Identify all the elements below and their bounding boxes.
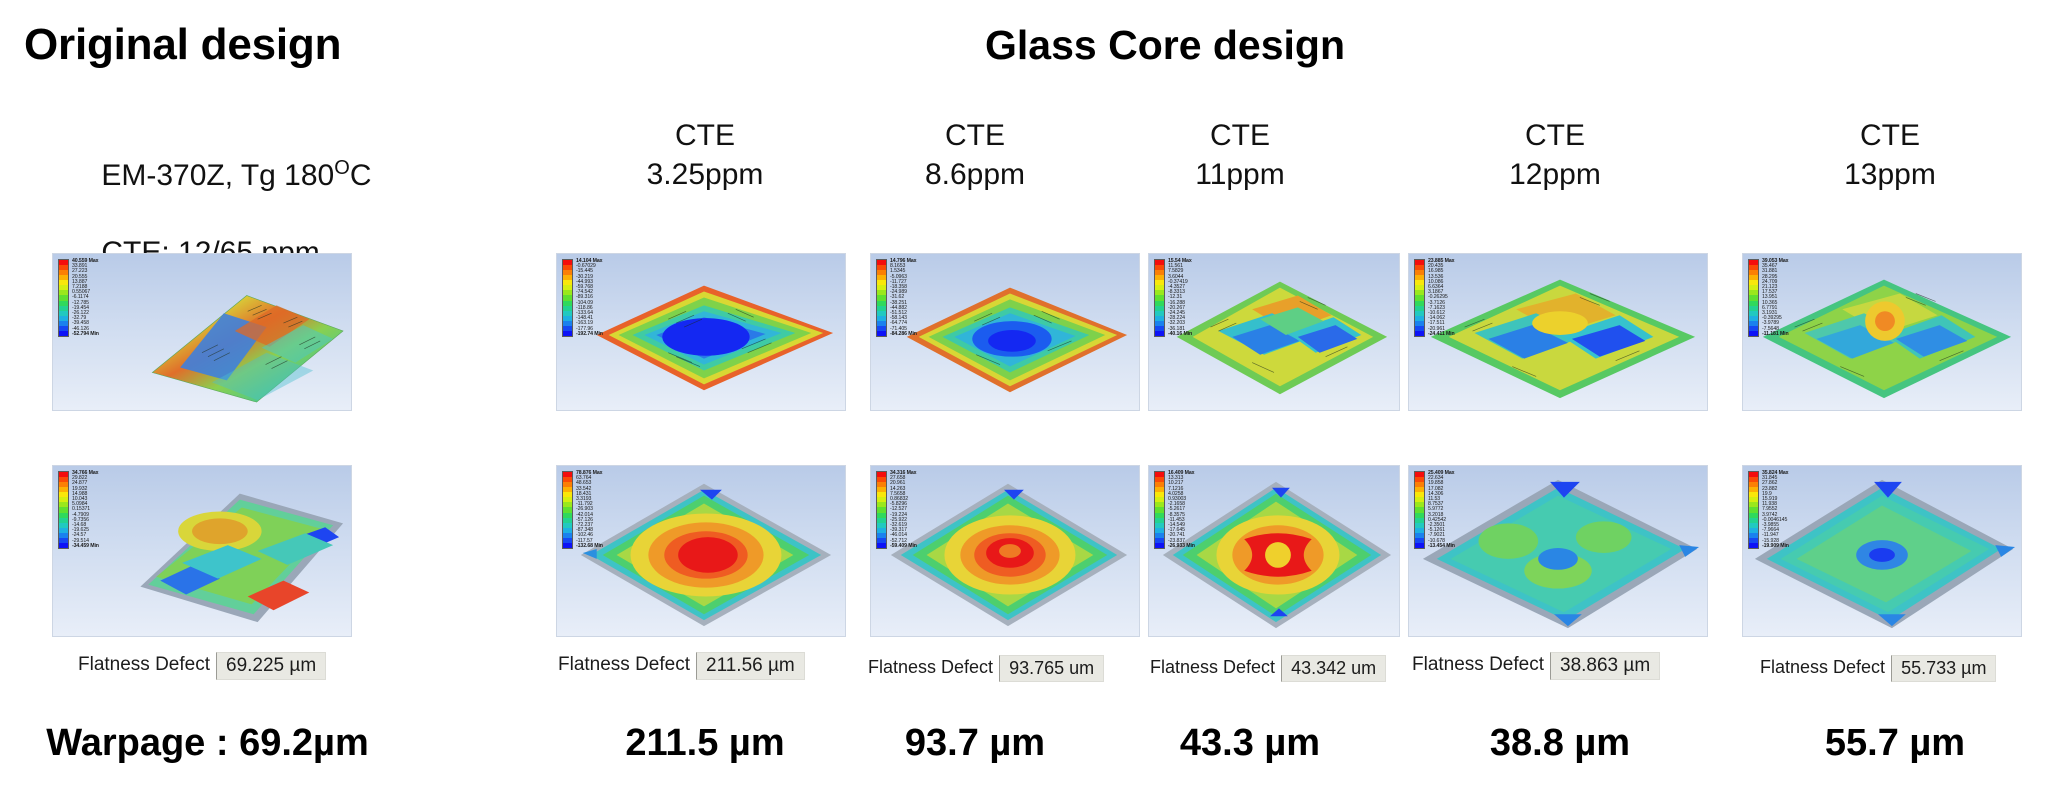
flatness-defect-original: Flatness Defect 69.225 µm	[76, 652, 326, 680]
contour-plot-cte13-row1[interactable]: 39.053 Max 35.467 31.881 28.295 24.709 2…	[1742, 253, 2022, 411]
degree-superscript: O	[334, 157, 350, 179]
cte-caption-col2: CTE 8.6ppm	[855, 116, 1095, 194]
contour-plot-cte86-row1[interactable]: 14.796 Max 8.1653 1.5345 -5.0963 -11.727…	[870, 253, 1140, 411]
flatness-defect-label: Flatness Defect	[1148, 655, 1281, 682]
warpage-cte11: 43.3 µm	[1130, 722, 1370, 765]
legend-tick-labels: 23.885 Max 20.435 16.985 13.536 10.086 6…	[1428, 259, 1455, 337]
contour-plot-cte86-row2[interactable]: 34.316 Max 27.658 20.961 14.263 7.5658 0…	[870, 465, 1140, 637]
cte-value-col1: 3.25ppm	[585, 155, 825, 194]
color-legend-cte13-row1: 39.053 Max 35.467 31.881 28.295 24.709 2…	[1748, 259, 1789, 337]
contour-plot-cte11-row2[interactable]: 16.409 Max 13.313 10.217 7.1216 4.0258 0…	[1148, 465, 1400, 637]
warpage-original: Warpage : 69.2µm	[25, 722, 390, 765]
warpage-cte13: 55.7 µm	[1775, 722, 2015, 765]
color-legend-original-row1: 40.559 Max 33.891 27.223 20.555 13.887 7…	[58, 259, 99, 337]
cte-value-col4: 12ppm	[1435, 155, 1675, 194]
warpage-cte325: 211.5 µm	[585, 722, 825, 765]
cte-caption-col3: CTE 11ppm	[1120, 116, 1360, 194]
cte-caption-col1: CTE 3.25ppm	[585, 116, 825, 194]
color-legend-cte325-row1: 14.104 Max -0.67029 -15.445 -30.219 -44.…	[562, 259, 603, 337]
cte-label-col3: CTE	[1210, 119, 1270, 152]
cte-label-col5: CTE	[1860, 119, 1920, 152]
cte-label-col2: CTE	[945, 119, 1005, 152]
flatness-defect-value: 43.342 um	[1281, 655, 1386, 682]
color-legend-cte11-row2: 16.409 Max 13.313 10.217 7.1216 4.0258 0…	[1154, 471, 1195, 549]
flatness-defect-value: 38.863 µm	[1550, 652, 1660, 680]
legend-tick-labels: 34.316 Max 27.658 20.961 14.263 7.5658 0…	[890, 471, 917, 549]
color-legend-cte86-row2: 34.316 Max 27.658 20.961 14.263 7.5658 0…	[876, 471, 917, 549]
flatness-defect-value: 55.733 µm	[1891, 655, 1996, 682]
flatness-defect-label: Flatness Defect	[556, 652, 696, 680]
contour-plot-original-row1[interactable]: 40.559 Max 33.891 27.223 20.555 13.887 7…	[52, 253, 352, 411]
contour-plot-cte12-row2[interactable]: 25.409 Max 22.634 19.858 17.082 14.306 1…	[1408, 465, 1708, 637]
page-title-original: Original design	[24, 20, 341, 70]
legend-colorbar	[1414, 259, 1425, 337]
color-legend-cte12-row1: 23.885 Max 20.435 16.985 13.536 10.086 6…	[1414, 259, 1455, 337]
color-legend-original-row2: 34.766 Max 29.822 24.877 19.932 14.988 1…	[58, 471, 99, 549]
legend-colorbar	[58, 471, 69, 549]
warpage-cte86: 93.7 µm	[855, 722, 1095, 765]
cte-caption-col4: CTE 12ppm	[1435, 116, 1675, 194]
legend-colorbar	[876, 259, 887, 337]
contour-plot-cte12-row1[interactable]: 23.885 Max 20.435 16.985 13.536 10.086 6…	[1408, 253, 1708, 411]
legend-colorbar	[562, 471, 573, 549]
flatness-defect-cte86: Flatness Defect 93.765 um	[866, 655, 1104, 682]
legend-tick-labels: 14.796 Max 8.1653 1.5345 -5.0963 -11.727…	[890, 259, 917, 337]
flatness-defect-cte325: Flatness Defect 211.56 µm	[556, 652, 805, 680]
contour-plot-cte13-row2[interactable]: 35.824 Max 31.845 27.862 23.882 19.9 15.…	[1742, 465, 2022, 637]
legend-colorbar	[876, 471, 887, 549]
legend-colorbar	[1154, 259, 1165, 337]
legend-colorbar	[1154, 471, 1165, 549]
flatness-defect-cte12: Flatness Defect 38.863 µm	[1410, 652, 1660, 680]
legend-tick-labels: 25.409 Max 22.634 19.858 17.082 14.306 1…	[1428, 471, 1455, 549]
cte-value-col2: 8.6ppm	[855, 155, 1095, 194]
legend-tick-labels: 78.876 Max 63.764 48.653 33.542 18.431 3…	[576, 471, 603, 549]
legend-colorbar	[1414, 471, 1425, 549]
legend-tick-labels: 35.824 Max 31.845 27.862 23.882 19.9 15.…	[1762, 471, 1789, 549]
cte-label-col1: CTE	[675, 119, 735, 152]
color-legend-cte325-row2: 78.876 Max 63.764 48.653 33.542 18.431 3…	[562, 471, 603, 549]
color-legend-cte86-row1: 14.796 Max 8.1653 1.5345 -5.0963 -11.727…	[876, 259, 917, 337]
color-legend-cte13-row2: 35.824 Max 31.845 27.862 23.882 19.9 15.…	[1748, 471, 1789, 549]
flatness-defect-label: Flatness Defect	[866, 655, 999, 682]
contour-plot-original-row2[interactable]: 34.766 Max 29.822 24.877 19.932 14.988 1…	[52, 465, 352, 637]
page-title-glass-core: Glass Core design	[985, 22, 1345, 69]
warpage-cte12: 38.8 µm	[1440, 722, 1680, 765]
legend-colorbar	[562, 259, 573, 337]
cte-value-col3: 11ppm	[1120, 155, 1360, 194]
legend-tick-labels: 40.559 Max 33.891 27.223 20.555 13.887 7…	[72, 259, 99, 337]
color-legend-cte12-row2: 25.409 Max 22.634 19.858 17.082 14.306 1…	[1414, 471, 1455, 549]
contour-plot-cte325-row2[interactable]: 78.876 Max 63.764 48.653 33.542 18.431 3…	[556, 465, 846, 637]
flatness-defect-label: Flatness Defect	[1410, 652, 1550, 680]
flatness-defect-value: 93.765 um	[999, 655, 1104, 682]
flatness-defect-cte11: Flatness Defect 43.342 um	[1148, 655, 1386, 682]
legend-tick-labels: 34.766 Max 29.822 24.877 19.932 14.988 1…	[72, 471, 99, 549]
legend-colorbar	[1748, 259, 1759, 337]
legend-colorbar	[58, 259, 69, 337]
slide-root: Original design Glass Core design EM-370…	[0, 0, 2048, 799]
flatness-defect-value: 69.225 µm	[216, 652, 326, 680]
legend-colorbar	[1748, 471, 1759, 549]
color-legend-cte11-row1: 15.54 Max 11.561 7.5829 3.6044 -0.37419 …	[1154, 259, 1192, 337]
legend-tick-labels: 15.54 Max 11.561 7.5829 3.6044 -0.37419 …	[1168, 259, 1192, 337]
flatness-defect-label: Flatness Defect	[1758, 655, 1891, 682]
flatness-defect-value: 211.56 µm	[696, 652, 805, 680]
legend-tick-labels: 39.053 Max 35.467 31.881 28.295 24.709 2…	[1762, 259, 1789, 337]
flatness-defect-label: Flatness Defect	[76, 652, 216, 680]
cte-caption-col5: CTE 13ppm	[1770, 116, 2010, 194]
cte-value-col5: 13ppm	[1770, 155, 2010, 194]
legend-tick-labels: 16.409 Max 13.313 10.217 7.1216 4.0258 0…	[1168, 471, 1195, 549]
contour-plot-cte11-row1[interactable]: 15.54 Max 11.561 7.5829 3.6044 -0.37419 …	[1148, 253, 1400, 411]
contour-plot-cte325-row1[interactable]: 14.104 Max -0.67029 -15.445 -30.219 -44.…	[556, 253, 846, 411]
original-material-line1: EM-370Z, Tg 180OC	[101, 159, 371, 192]
legend-tick-labels: 14.104 Max -0.67029 -15.445 -30.219 -44.…	[576, 259, 603, 337]
cte-label-col4: CTE	[1525, 119, 1585, 152]
flatness-defect-cte13: Flatness Defect 55.733 µm	[1758, 655, 1996, 682]
